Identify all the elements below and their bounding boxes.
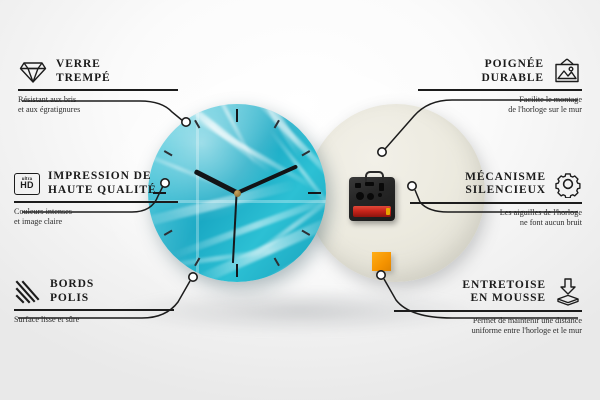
callout-description: Permet de maintenir une distance uniform… xyxy=(394,316,582,337)
callout-title: IMPRESSION DEHAUTE QUALITÉ xyxy=(48,170,157,197)
callout-header: ENTRETOISEEN MOUSSE xyxy=(394,278,582,306)
callout-rule xyxy=(410,202,582,204)
callout-entretoise-mousse[interactable]: ENTRETOISEEN MOUSSE Permet de maintenir … xyxy=(394,278,582,337)
foam-spacer-icon xyxy=(554,278,582,306)
callout-header: VERRETREMPÉ xyxy=(18,58,178,85)
foam-spacer xyxy=(372,252,391,271)
callout-rule xyxy=(18,89,178,91)
callout-title: VERRETREMPÉ xyxy=(56,58,111,85)
callout-header: MÉCANISMESILENCIEUX xyxy=(410,170,582,198)
callout-rule xyxy=(14,309,174,311)
callout-header: POIGNÉEDURABLE xyxy=(418,58,582,85)
ultra-hd-icon: ultra HD xyxy=(14,173,40,195)
gear-icon xyxy=(554,170,582,198)
diamond-icon xyxy=(18,59,48,85)
picture-hanger-icon xyxy=(552,58,582,85)
infographic-stage: VERRETREMPÉ Résistant aux bris et aux ég… xyxy=(0,0,600,400)
callout-description: Facilite le montage de l'horloge sur le … xyxy=(418,95,582,116)
callout-title: BORDSPOLIS xyxy=(50,278,94,305)
callout-title: ENTRETOISEEN MOUSSE xyxy=(462,279,546,306)
callout-title: POIGNÉEDURABLE xyxy=(481,58,544,85)
callout-verre-trempe[interactable]: VERRETREMPÉ Résistant aux bris et aux ég… xyxy=(18,58,178,116)
callout-description: Surface lisse et sûre xyxy=(14,315,174,326)
battery xyxy=(353,206,391,217)
clock-mechanism xyxy=(349,177,395,221)
callout-rule xyxy=(394,310,582,312)
callout-poignee-durable[interactable]: POIGNÉEDURABLE Facilite le montage de l'… xyxy=(418,58,582,116)
callout-description: Résistant aux bris et aux égratignures xyxy=(18,95,178,116)
clock-hub xyxy=(234,190,241,197)
callout-header: BORDSPOLIS xyxy=(14,278,174,305)
callout-header: ultra HD IMPRESSION DEHAUTE QUALITÉ xyxy=(14,170,178,197)
callout-rule xyxy=(418,89,582,91)
callout-rule xyxy=(14,201,178,203)
callout-description: Les aiguilles de l'horloge ne font aucun… xyxy=(410,208,582,229)
mechanism-details xyxy=(353,181,391,203)
callout-bords-polis[interactable]: BORDSPOLIS Surface lisse et sûre xyxy=(14,278,174,325)
polished-edges-icon xyxy=(14,279,42,305)
callout-mecanisme-silencieux[interactable]: MÉCANISMESILENCIEUX Les aiguilles de l'h… xyxy=(410,170,582,229)
callout-title: MÉCANISMESILENCIEUX xyxy=(465,171,546,198)
hd-icon-main-label: HD xyxy=(20,181,34,190)
callout-description: Couleurs intenses et image claire xyxy=(14,207,178,228)
callout-impression-hd[interactable]: ultra HD IMPRESSION DEHAUTE QUALITÉ Coul… xyxy=(14,170,178,228)
